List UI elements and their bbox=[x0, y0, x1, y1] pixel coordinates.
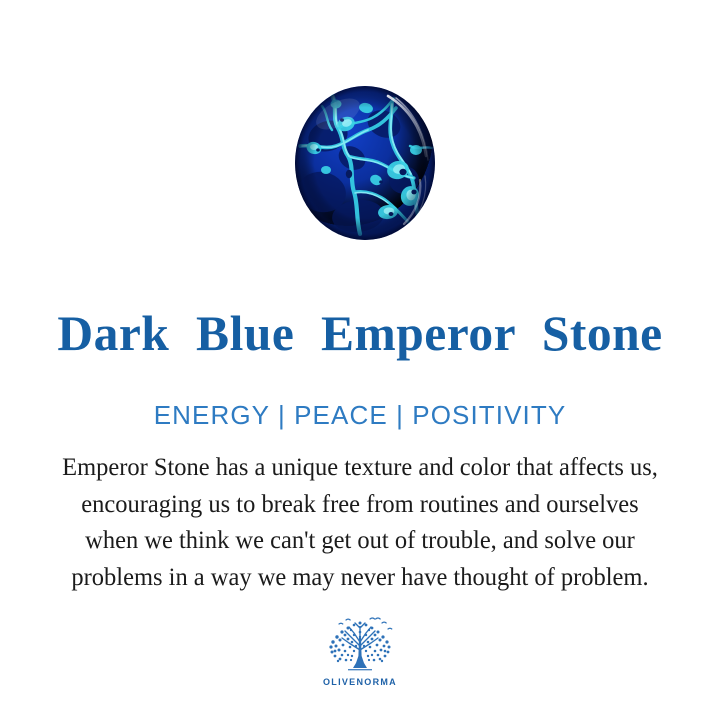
product-description: Emperor Stone has a unique texture and c… bbox=[0, 449, 720, 595]
description-line: problems in a way we may never have thou… bbox=[14, 559, 705, 596]
product-image bbox=[292, 84, 438, 242]
product-info-card: Dark Blue Emperor Stone ENERGY | PEACE |… bbox=[0, 0, 720, 720]
brand-wordmark: OLIVENORMA bbox=[323, 677, 397, 687]
page-title: Dark Blue Emperor Stone bbox=[4, 300, 717, 366]
emperor-stone-graphic bbox=[292, 84, 438, 242]
brand-logo: OLIVENORMA bbox=[0, 616, 720, 687]
description-line: when we think we can't get out of troubl… bbox=[14, 522, 705, 559]
keyword-tagline: ENERGY | PEACE | POSITIVITY bbox=[0, 400, 720, 430]
description-line: Emperor Stone has a unique texture and c… bbox=[14, 449, 705, 486]
olive-tree-icon bbox=[318, 616, 402, 674]
description-line: encouraging us to break free from routin… bbox=[14, 486, 705, 523]
